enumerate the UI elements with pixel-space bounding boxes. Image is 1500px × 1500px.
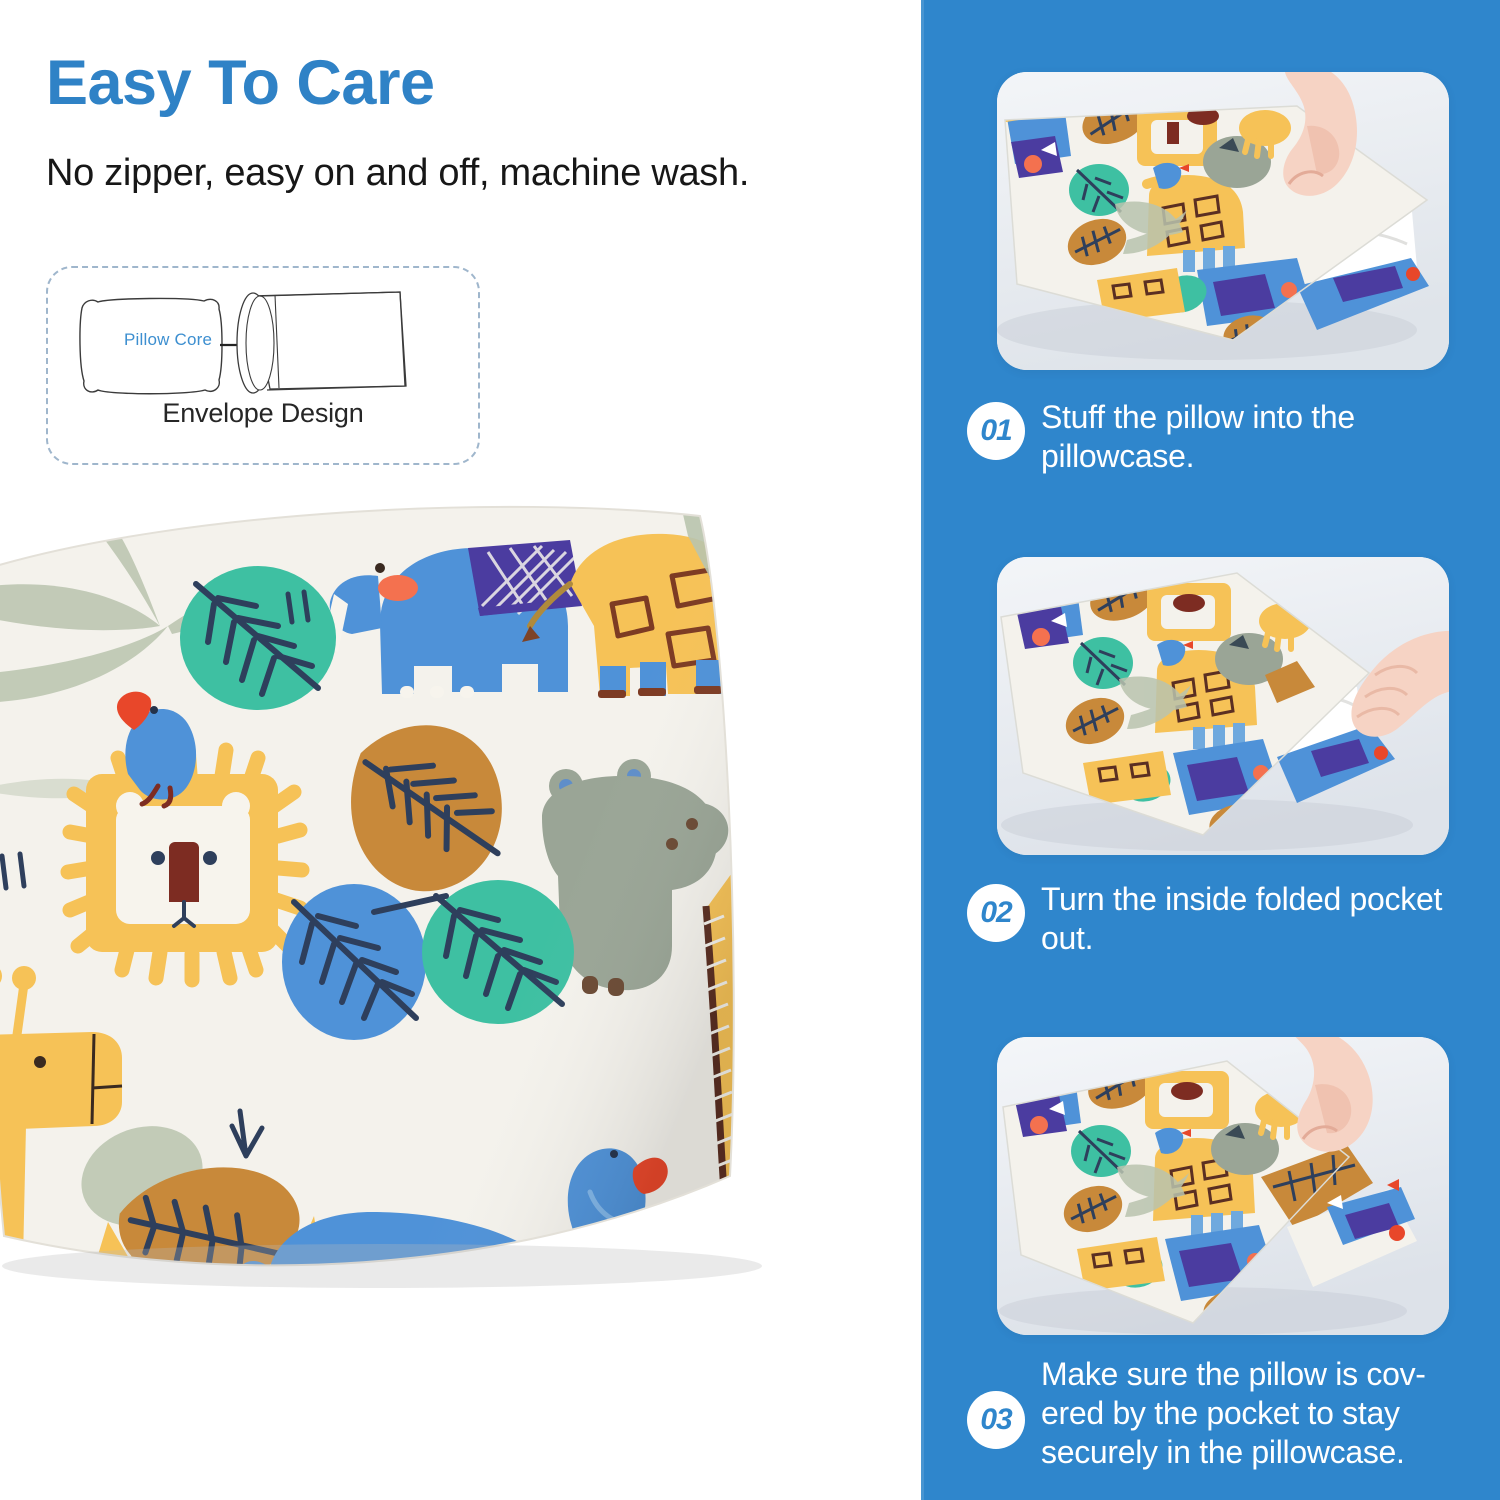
step-photo-2: [997, 557, 1449, 855]
step-1-text: Stuff the pillow into the pillowcase.: [1041, 398, 1487, 476]
panel-left-edge: [921, 0, 924, 1500]
step-photo-1-illustration: [997, 72, 1449, 370]
product-infographic: Easy To Care No zipper, easy on and off,…: [0, 0, 1500, 1500]
page-title: Easy To Care: [46, 52, 435, 115]
envelope-design-diagram: [48, 268, 474, 459]
step-photo-2-illustration: [997, 557, 1449, 855]
step-3-text: Make sure the pillow is cov-ered by the …: [1041, 1355, 1487, 1472]
step-3-badge: 03: [967, 1391, 1025, 1449]
step-2-text: Turn the inside folded pocket out.: [1041, 880, 1487, 958]
envelope-design-caption: Envelope Design: [48, 398, 478, 429]
step-photo-3: [997, 1037, 1449, 1335]
step-photo-3-illustration: [997, 1037, 1449, 1335]
main-product-photo: [0, 476, 802, 1306]
page-subtitle: No zipper, easy on and off, machine wash…: [46, 152, 749, 196]
step-3: 03 Make sure the pillow is cov-ered by t…: [967, 1355, 1487, 1472]
instruction-panel: 01 Stuff the pillow into the pillowcase.: [921, 0, 1500, 1500]
left-column: Easy To Care No zipper, easy on and off,…: [0, 0, 921, 1500]
pillowcase-opening-inner: [246, 296, 274, 390]
envelope-design-card: Pillow Core Envelope Design: [46, 266, 480, 465]
pillow-pattern: [0, 476, 802, 1306]
pillow-illustration: [0, 476, 802, 1306]
step-1-badge: 01: [967, 402, 1025, 460]
step-2: 02 Turn the inside folded pocket out.: [967, 880, 1487, 958]
pillow-core-label: Pillow Core: [124, 330, 212, 350]
step-1: 01 Stuff the pillow into the pillowcase.: [967, 398, 1487, 476]
pillow-drop-shadow: [2, 1244, 762, 1288]
step-photo-1: [997, 72, 1449, 370]
step-2-badge: 02: [967, 884, 1025, 942]
